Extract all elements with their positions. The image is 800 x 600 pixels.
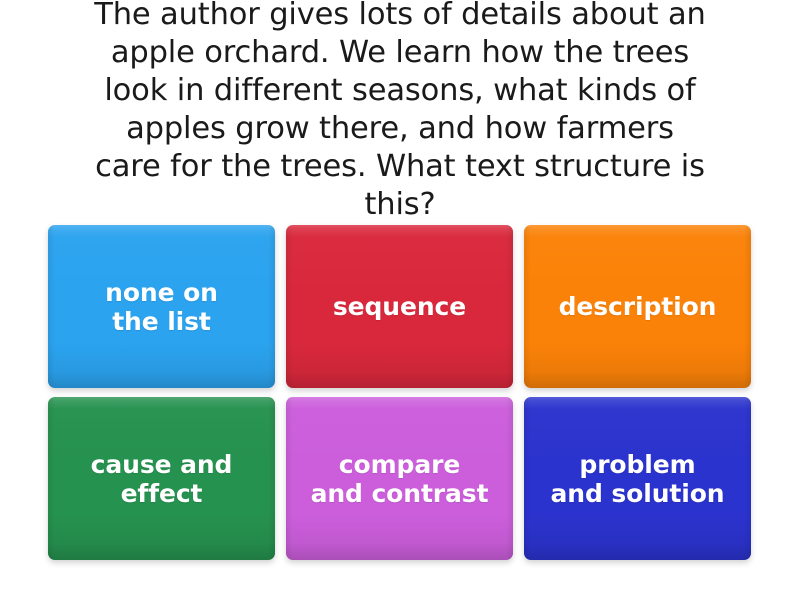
answer-tile-1[interactable]: none on the list (48, 225, 275, 388)
answer-tile-3-label: description (559, 292, 717, 321)
answer-tile-4[interactable]: cause and effect (48, 397, 275, 560)
answer-tile-1-label: none on the list (105, 278, 218, 336)
quiz-screen: The author gives lots of details about a… (0, 0, 800, 600)
answer-tile-3[interactable]: description (524, 225, 751, 388)
answer-tile-5-label: compare and contrast (311, 450, 489, 508)
answer-tile-2[interactable]: sequence (286, 225, 513, 388)
answer-tile-5[interactable]: compare and contrast (286, 397, 513, 560)
answer-tile-2-label: sequence (333, 292, 466, 321)
answer-options-grid: none on the list sequence description ca… (48, 225, 752, 560)
answer-tile-6[interactable]: problem and solution (524, 397, 751, 560)
answer-tile-6-label: problem and solution (551, 450, 725, 508)
answer-tile-4-label: cause and effect (91, 450, 233, 508)
question-area: The author gives lots of details about a… (0, 0, 800, 214)
question-text: The author gives lots of details about a… (89, 0, 711, 224)
